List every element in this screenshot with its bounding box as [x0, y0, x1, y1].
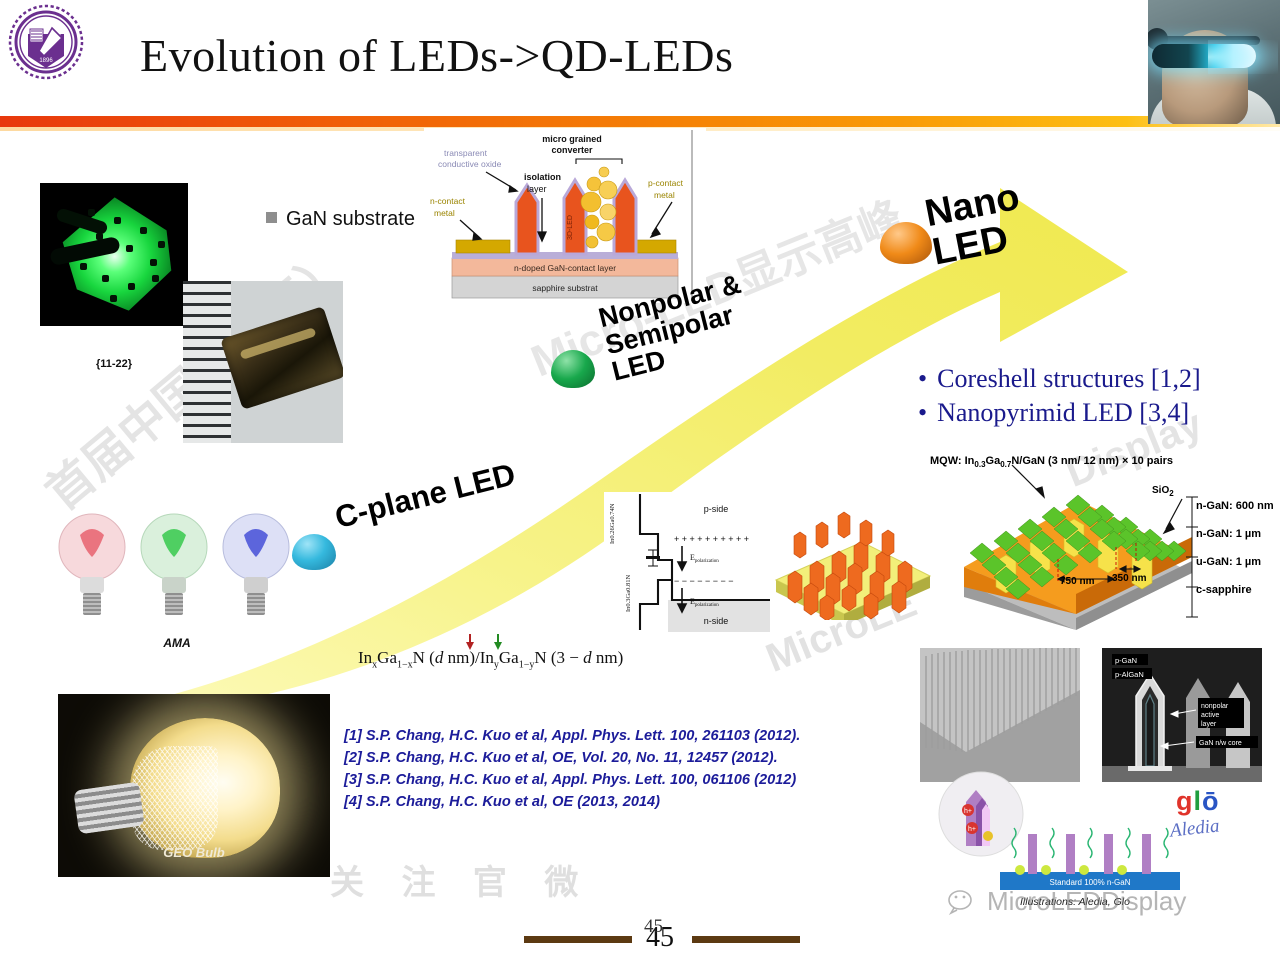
- legend-gan-substrate: GaN substrate: [266, 208, 415, 231]
- schematic-converter-label-1: micro grained: [542, 134, 602, 144]
- band-n-side-label: n-side: [704, 616, 729, 626]
- nanorod-array-illustration: [770, 480, 935, 620]
- wechat-handle: MicroLEDDisplay: [987, 886, 1186, 917]
- schematic-tco-label-1: transparent: [444, 148, 488, 158]
- nano-led-bullet-list: Coreshell structures [1,2] Nanopyrimid L…: [878, 362, 1280, 431]
- vr-light-beam: [1208, 40, 1278, 74]
- sem-label-p-algan: p-AlGaN: [1115, 670, 1144, 679]
- glo-logo-l: l: [1194, 786, 1203, 816]
- dimension-350nm: 350 nm: [1112, 573, 1146, 584]
- header-rule-gradient: [0, 116, 1280, 127]
- pyramid-layer-legend: n-GaN: 600 nm n-GaN: 1 µm u-GaN: 1 µm c-…: [1196, 492, 1274, 604]
- carrier-hole-1: h+: [964, 808, 972, 815]
- layer-n-gan-1um: n-GaN: 1 µm: [1196, 520, 1274, 548]
- watermark-bottom-chinese: 关 注 官 微: [330, 855, 592, 904]
- wechat-icon: [948, 889, 978, 915]
- schematic-3d-led-label: 3D-LED: [567, 215, 574, 240]
- bulk-gan-crystal-photo: [183, 281, 343, 443]
- reference-list: [1] S.P. Chang, H.C. Kuo et al, Appl. Ph…: [344, 726, 924, 814]
- schematic-ncontact-label-1: n-contact: [430, 196, 466, 206]
- schematic-tco-label-2: conductive oxide: [438, 159, 502, 169]
- glo-logo: glō: [1176, 786, 1220, 817]
- band-left-axis-2: In0.3Ga0.81N: [625, 575, 632, 612]
- vr-headset-photo: [1148, 0, 1280, 124]
- gan-crystal-rod: [220, 306, 343, 410]
- caption-plane-1122: {11-22}: [40, 358, 188, 370]
- bulb-blue: [223, 514, 289, 615]
- layer-c-sapphire: c-sapphire: [1196, 576, 1274, 604]
- schematic-substrate-label: sapphire substrat: [532, 283, 598, 293]
- schematic-n-contact-pad: [456, 240, 510, 253]
- band-left-axis-1: In0.26Ga0.74N: [609, 503, 616, 544]
- polarization-band-diagram: + + + + + + + + + + − − − − − − − − Epol…: [604, 492, 770, 632]
- mqw-caption: MQW: In0.3Ga0.7N/GaN (3 nm/ 12 nm) × 10 …: [930, 455, 1173, 469]
- reference-4: [4] S.P. Chang, H.C. Kuo et al, OE (2013…: [344, 792, 924, 814]
- dimension-750nm: 750 nm: [1060, 576, 1094, 587]
- glo-logo-o: ō: [1202, 786, 1220, 816]
- sem-coreshell-nanowire-image: p-GaN p-AlGaN nonpolar active layer GaN …: [1102, 648, 1262, 782]
- logo-year: 1896: [39, 58, 53, 64]
- green-led-emission-photo: [40, 183, 188, 326]
- bulb-mesh-texture: [132, 746, 218, 850]
- bulb-red: [59, 514, 125, 615]
- schematic-pcontact-label-2: metal: [654, 190, 675, 200]
- 3d-led-cross-section-schematic: sapphire substrat n-doped GaN-contact la…: [424, 128, 706, 303]
- schematic-isolation-label-2: layer: [527, 184, 547, 194]
- sio2-label: SiO2: [1152, 485, 1174, 498]
- formula-pointer-arrows: [462, 632, 522, 654]
- schematic-converter-label-2: converter: [551, 145, 593, 155]
- bullet-nanopyrimid: Nanopyrimid LED [3,4]: [918, 396, 1280, 430]
- sem-nanowire-array-image: [920, 648, 1080, 782]
- aledia-logo: Aledia: [1169, 815, 1221, 842]
- quantum-dot-standard-illustration: Standard 100% n-GaN: [1000, 820, 1180, 892]
- stage-marker-nano: [880, 222, 932, 264]
- band-negative-charges: − − − − − − − −: [674, 576, 734, 586]
- bulb-screw-base: [73, 782, 144, 835]
- rgb-led-bulbs-photo: [52, 505, 302, 630]
- band-p-side-label: p-side: [704, 504, 729, 514]
- sem-label-gan-core: GaN n/w core: [1199, 740, 1242, 747]
- schematic-pcontact-label-1: p-contact: [648, 178, 684, 188]
- reference-3: [3] S.P. Chang, H.C. Kuo et al, Appl. Ph…: [344, 770, 924, 792]
- sem-label-nonpolar-2: active: [1201, 712, 1219, 719]
- reference-1: [1] S.P. Chang, H.C. Kuo et al, Appl. Ph…: [344, 726, 924, 748]
- band-positive-charges: + + + + + + + + + +: [674, 534, 749, 544]
- slide-root: ES 1896 Evolution of LEDs->QD-LEDs: [0, 0, 1280, 960]
- carrier-hole-2: h+: [968, 826, 976, 833]
- schematic-ndoped-label: n-doped GaN-contact layer: [514, 263, 616, 273]
- page-number-ghost: 45: [644, 916, 663, 938]
- layer-u-gan-1um: u-GaN: 1 µm: [1196, 548, 1274, 576]
- page-number: 45 45: [600, 922, 720, 954]
- sem-label-nonpolar-1: nonpolar: [1201, 703, 1229, 710]
- nctu-seal-logo: ES 1896: [8, 4, 84, 80]
- schematic-ncontact-label-2: metal: [434, 208, 455, 218]
- bulb-green: [141, 514, 207, 615]
- reference-2: [2] S.P. Chang, H.C. Kuo et al, OE, Vol.…: [344, 748, 924, 770]
- caption-ama: AMA: [52, 636, 302, 650]
- legend-square-marker: [266, 212, 277, 223]
- stage-marker-nonpolar: [551, 350, 595, 388]
- page-title: Evolution of LEDs->QD-LEDs: [140, 20, 1020, 92]
- legend-gan-substrate-label: GaN substrate: [286, 208, 415, 230]
- schematic-isolation-label-1: isolation: [524, 172, 561, 182]
- caption-geo-bulb: GEO Bulb: [58, 845, 330, 860]
- sem-label-p-gan: p-GaN: [1115, 656, 1137, 665]
- bullet-coreshell: Coreshell structures [1,2]: [918, 362, 1280, 396]
- layer-n-gan-600: n-GaN: 600 nm: [1196, 492, 1274, 520]
- glo-logo-g: g: [1176, 786, 1194, 816]
- ruler-scale: [183, 281, 231, 443]
- wechat-watermark: MicroLEDDisplay: [948, 886, 1186, 917]
- sem-label-nonpolar-3: layer: [1201, 721, 1217, 728]
